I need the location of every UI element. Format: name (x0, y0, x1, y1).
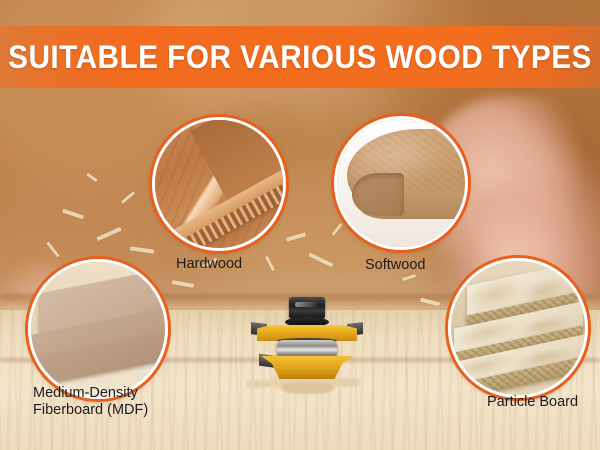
softwood-sheet-photo (337, 119, 465, 247)
sawdust-pile (336, 378, 360, 387)
callout-label-hardwood: Hardwood (176, 256, 242, 273)
callout-circle-softwood[interactable] (334, 116, 468, 250)
page-title: SUITABLE FOR VARIOUS WOOD TYPES (21, 26, 579, 88)
product-infographic: SUITABLE FOR VARIOUS WOOD TYPES Hardwood… (0, 0, 600, 450)
callout-label-particle-board: Particle Board (487, 394, 578, 411)
callout-circle-particle-board[interactable] (448, 258, 588, 398)
hardwood-plank-photo (155, 120, 283, 248)
softwood-sheet-underside (352, 173, 403, 217)
sawdust-pile (246, 380, 272, 388)
callout-circle-mdf[interactable] (28, 259, 168, 399)
callout-label-mdf: Medium-Density Fiberboard (MDF) (33, 385, 148, 419)
lower-cutter-body (261, 356, 353, 379)
bolt-highlight (295, 302, 317, 307)
mdf-boards-photo (31, 262, 165, 396)
callout-label-softwood: Softwood (365, 257, 425, 274)
particle-board-photo (451, 261, 585, 395)
hex-bolt-head (289, 297, 325, 319)
router-bit[interactable] (255, 297, 359, 379)
sawdust-pile (282, 382, 334, 394)
callout-circle-hardwood[interactable] (152, 117, 286, 251)
